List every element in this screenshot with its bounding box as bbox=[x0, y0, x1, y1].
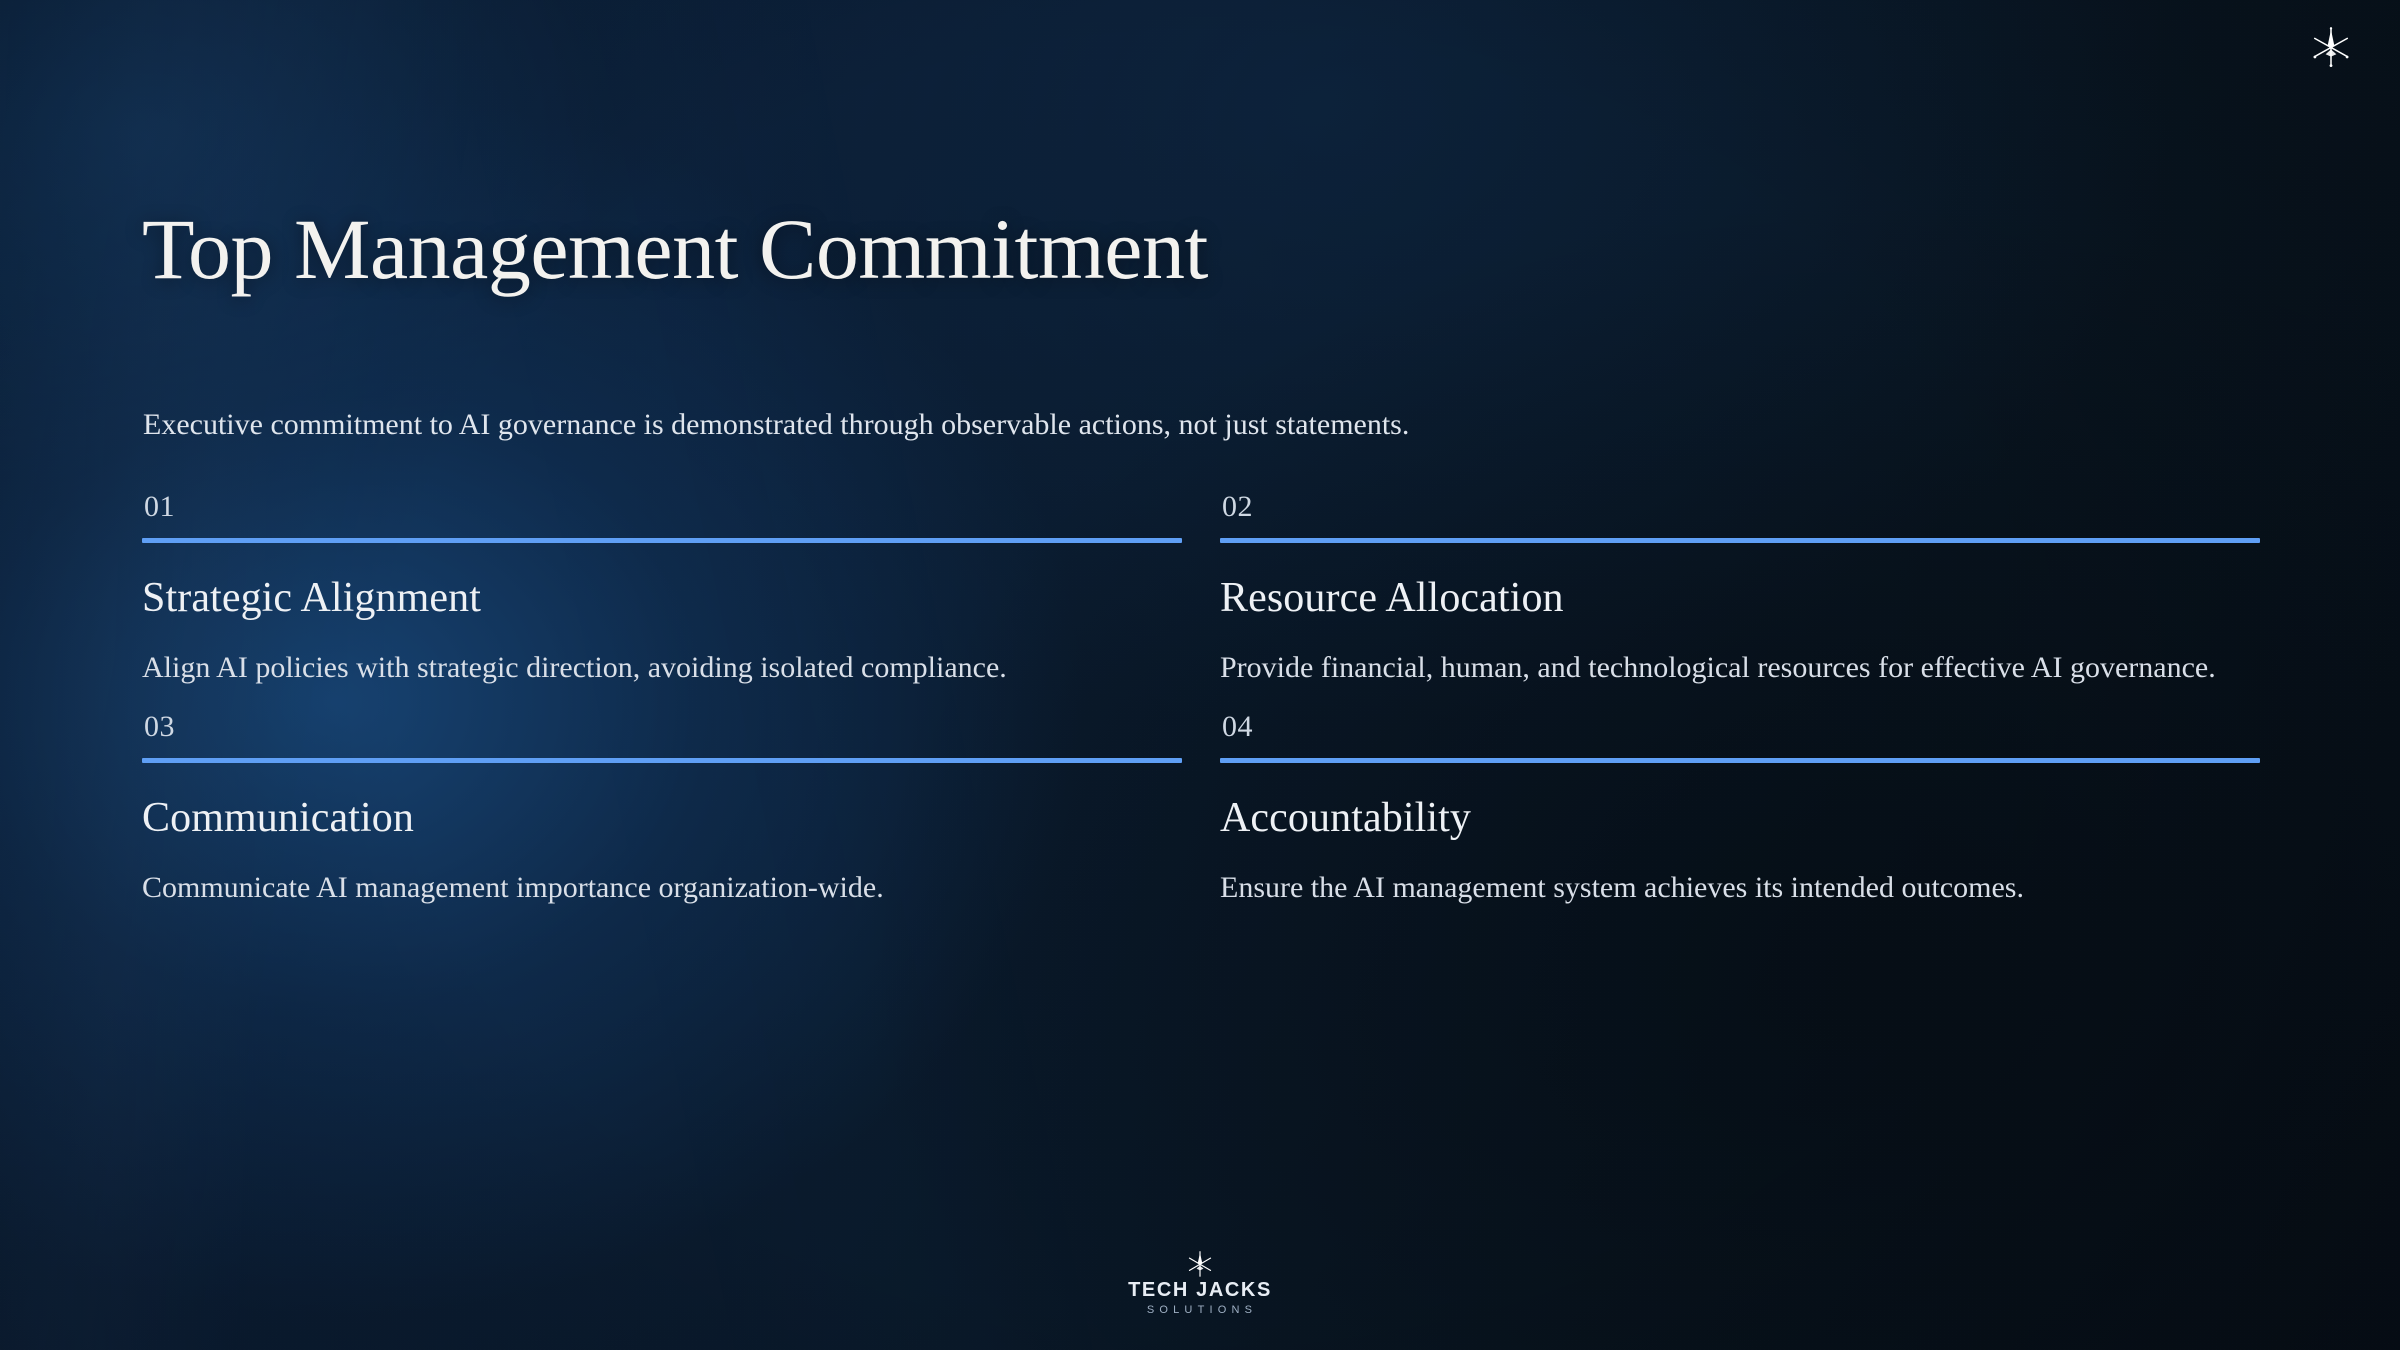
brand-wordmark: TECH JACKS bbox=[1080, 1280, 1320, 1300]
slide-content: Top Management Commitment Executive comm… bbox=[0, 0, 2400, 1350]
commitment-card-01[interactable]: 01 Strategic Alignment Align AI policies… bbox=[142, 492, 1182, 690]
card-number: 02 bbox=[1220, 492, 2260, 538]
page-title: Top Management Commitment bbox=[142, 206, 1208, 292]
brand-tagline: SOLUTIONS bbox=[1080, 1305, 1320, 1316]
commitment-card-grid: 01 Strategic Alignment Align AI policies… bbox=[142, 492, 2260, 910]
commitment-card-03[interactable]: 03 Communication Communicate AI manageme… bbox=[142, 712, 1182, 910]
card-title: Accountability bbox=[1220, 795, 2260, 841]
card-accent-rule bbox=[142, 758, 1182, 763]
card-number: 04 bbox=[1220, 712, 2260, 758]
footer-brand-logo: TECH JACKS SOLUTIONS bbox=[1080, 1250, 1320, 1316]
card-description: Communicate AI management importance org… bbox=[142, 867, 1142, 910]
sparkle-star-icon bbox=[2308, 24, 2354, 70]
card-title: Resource Allocation bbox=[1220, 575, 2260, 621]
card-title: Communication bbox=[142, 795, 1182, 841]
card-title: Strategic Alignment bbox=[142, 575, 1182, 621]
card-accent-rule bbox=[1220, 538, 2260, 543]
card-description: Align AI policies with strategic directi… bbox=[142, 647, 1142, 690]
commitment-card-02[interactable]: 02 Resource Allocation Provide financial… bbox=[1220, 492, 2260, 690]
commitment-card-04[interactable]: 04 Accountability Ensure the AI manageme… bbox=[1220, 712, 2260, 910]
sparkle-star-icon bbox=[1186, 1250, 1214, 1278]
card-description: Provide financial, human, and technologi… bbox=[1220, 647, 2220, 690]
page-subtitle: Executive commitment to AI governance is… bbox=[143, 405, 1409, 446]
card-number: 03 bbox=[142, 712, 1182, 758]
card-accent-rule bbox=[142, 538, 1182, 543]
card-description: Ensure the AI management system achieves… bbox=[1220, 867, 2220, 910]
card-number: 01 bbox=[142, 492, 1182, 538]
card-accent-rule bbox=[1220, 758, 2260, 763]
